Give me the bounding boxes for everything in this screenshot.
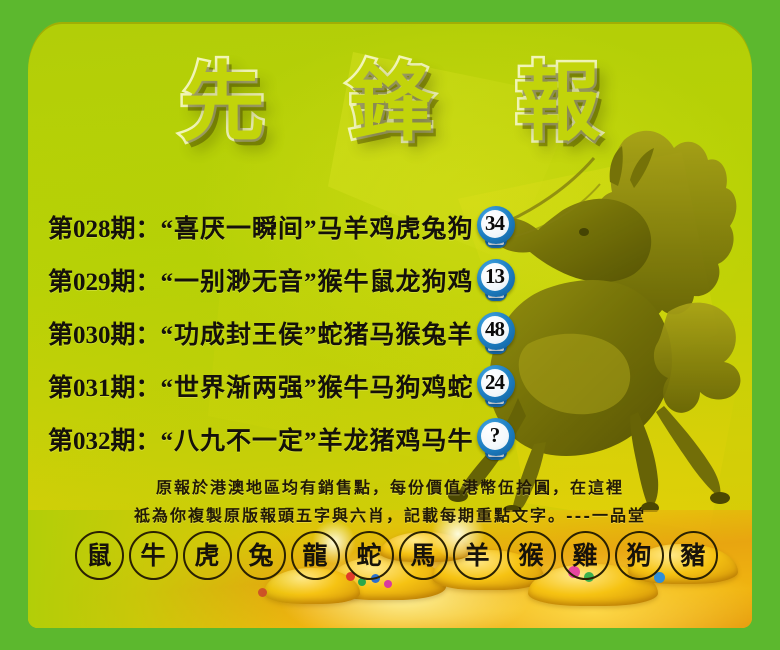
ball-inner: 13 bbox=[481, 263, 509, 291]
forecast-quote: “喜厌一瞬间” bbox=[161, 209, 318, 245]
zodiac-label: 羊 bbox=[464, 543, 489, 568]
zodiac-label: 龍 bbox=[302, 543, 327, 568]
lottery-ball[interactable]: 13 bbox=[476, 259, 516, 301]
forecast-list: 第028期： “喜厌一瞬间” 马羊鸡虎兔狗 34 第029期： “一别渺无音” … bbox=[28, 200, 752, 465]
ball-number: 34 bbox=[485, 213, 504, 234]
gem bbox=[384, 580, 392, 588]
ball-inner: 48 bbox=[481, 316, 509, 344]
zodiac-label: 馬 bbox=[410, 543, 435, 568]
ball-inner: 24 bbox=[481, 369, 509, 397]
notice-line-2: 祗為你複製原版報頭五字與六肖，記載每期重點文字。---一品堂 bbox=[28, 502, 752, 530]
zodiac-label: 豬 bbox=[680, 543, 705, 568]
forecast-quote: “一别渺无音” bbox=[161, 262, 318, 298]
zodiac-coin-snake[interactable]: 蛇 bbox=[345, 531, 394, 580]
forecast-issue: 第031期： bbox=[48, 368, 161, 404]
zodiac-coin-goat[interactable]: 羊 bbox=[453, 531, 502, 580]
zodiac-coin-rooster[interactable]: 雞 bbox=[561, 531, 610, 580]
ball-number: 24 bbox=[485, 372, 504, 393]
zodiac-coin-ox[interactable]: 牛 bbox=[129, 531, 178, 580]
masthead: 先 鋒 報 bbox=[28, 58, 752, 148]
bottom-border-strip bbox=[0, 628, 780, 650]
forecast-row[interactable]: 第030期： “功成封王侯” 蛇猪马猴兔羊 48 bbox=[28, 306, 752, 359]
zodiac-label: 猴 bbox=[518, 543, 543, 568]
zodiac-coin-monkey[interactable]: 猴 bbox=[507, 531, 556, 580]
lottery-ball[interactable]: 48 bbox=[476, 312, 516, 354]
zodiac-label: 牛 bbox=[140, 543, 165, 568]
poster-root: 先 鋒 報 第028期： “喜厌一瞬间” 马羊鸡虎兔狗 34 第029期： “一… bbox=[0, 0, 780, 650]
forecast-issue: 第030期： bbox=[48, 315, 161, 351]
zodiac-coin-dog[interactable]: 狗 bbox=[615, 531, 664, 580]
zodiac-coin-rat[interactable]: 鼠 bbox=[75, 531, 124, 580]
forecast-zodiacs: 羊龙猪鸡马牛 bbox=[318, 421, 474, 457]
forecast-issue: 第029期： bbox=[48, 262, 161, 298]
forecast-row[interactable]: 第031期： “世界渐两强” 猴牛马狗鸡蛇 24 bbox=[28, 359, 752, 412]
lottery-ball[interactable]: ? bbox=[476, 418, 516, 460]
ball-inner: 34 bbox=[481, 210, 509, 238]
forecast-quote: “八九不一定” bbox=[161, 421, 318, 457]
zodiac-coin-rabbit[interactable]: 兔 bbox=[237, 531, 286, 580]
zodiac-label: 虎 bbox=[194, 543, 219, 568]
forecast-row[interactable]: 第028期： “喜厌一瞬间” 马羊鸡虎兔狗 34 bbox=[28, 200, 752, 253]
zodiac-coin-dragon[interactable]: 龍 bbox=[291, 531, 340, 580]
forecast-zodiacs: 猴牛马狗鸡蛇 bbox=[318, 368, 474, 404]
zodiac-coin-horse[interactable]: 馬 bbox=[399, 531, 448, 580]
forecast-zodiacs: 猴牛鼠龙狗鸡 bbox=[318, 262, 474, 298]
forecast-row[interactable]: 第032期： “八九不一定” 羊龙猪鸡马牛 ? bbox=[28, 412, 752, 465]
forecast-row[interactable]: 第029期： “一别渺无音” 猴牛鼠龙狗鸡 13 bbox=[28, 253, 752, 306]
ball-number: 13 bbox=[485, 266, 504, 287]
forecast-quote: “功成封王侯” bbox=[161, 315, 318, 351]
zodiac-label: 狗 bbox=[626, 543, 651, 568]
forecast-issue: 第028期： bbox=[48, 209, 161, 245]
zodiac-label: 雞 bbox=[572, 543, 597, 568]
forecast-quote: “世界渐两强” bbox=[161, 368, 318, 404]
lottery-ball[interactable]: 34 bbox=[476, 206, 516, 248]
poster-panel: 先 鋒 報 第028期： “喜厌一瞬间” 马羊鸡虎兔狗 34 第029期： “一… bbox=[28, 22, 752, 628]
forecast-zodiacs: 蛇猪马猴兔羊 bbox=[318, 315, 474, 351]
ball-number: ? bbox=[490, 425, 500, 446]
notice-line-1: 原報於港澳地區均有銷售點，每份價值港幣伍拾圓，在這裡 bbox=[28, 474, 752, 502]
ball-inner: ? bbox=[481, 422, 509, 450]
zodiac-label: 鼠 bbox=[86, 543, 111, 568]
page-title: 先 鋒 報 bbox=[153, 58, 627, 148]
zodiac-coin-pig[interactable]: 豬 bbox=[669, 531, 718, 580]
zodiac-label: 兔 bbox=[248, 543, 273, 568]
ball-number: 48 bbox=[485, 319, 504, 340]
zodiac-row: 鼠 牛 虎 兔 龍 蛇 馬 羊 猴 雞 狗 豬 bbox=[28, 531, 752, 580]
forecast-zodiacs: 马羊鸡虎兔狗 bbox=[318, 209, 474, 245]
forecast-issue: 第032期： bbox=[48, 421, 161, 457]
zodiac-coin-tiger[interactable]: 虎 bbox=[183, 531, 232, 580]
lottery-ball[interactable]: 24 bbox=[476, 365, 516, 407]
zodiac-label: 蛇 bbox=[356, 543, 381, 568]
notice-block: 原報於港澳地區均有銷售點，每份價值港幣伍拾圓，在這裡 祗為你複製原版報頭五字與六… bbox=[28, 474, 752, 530]
